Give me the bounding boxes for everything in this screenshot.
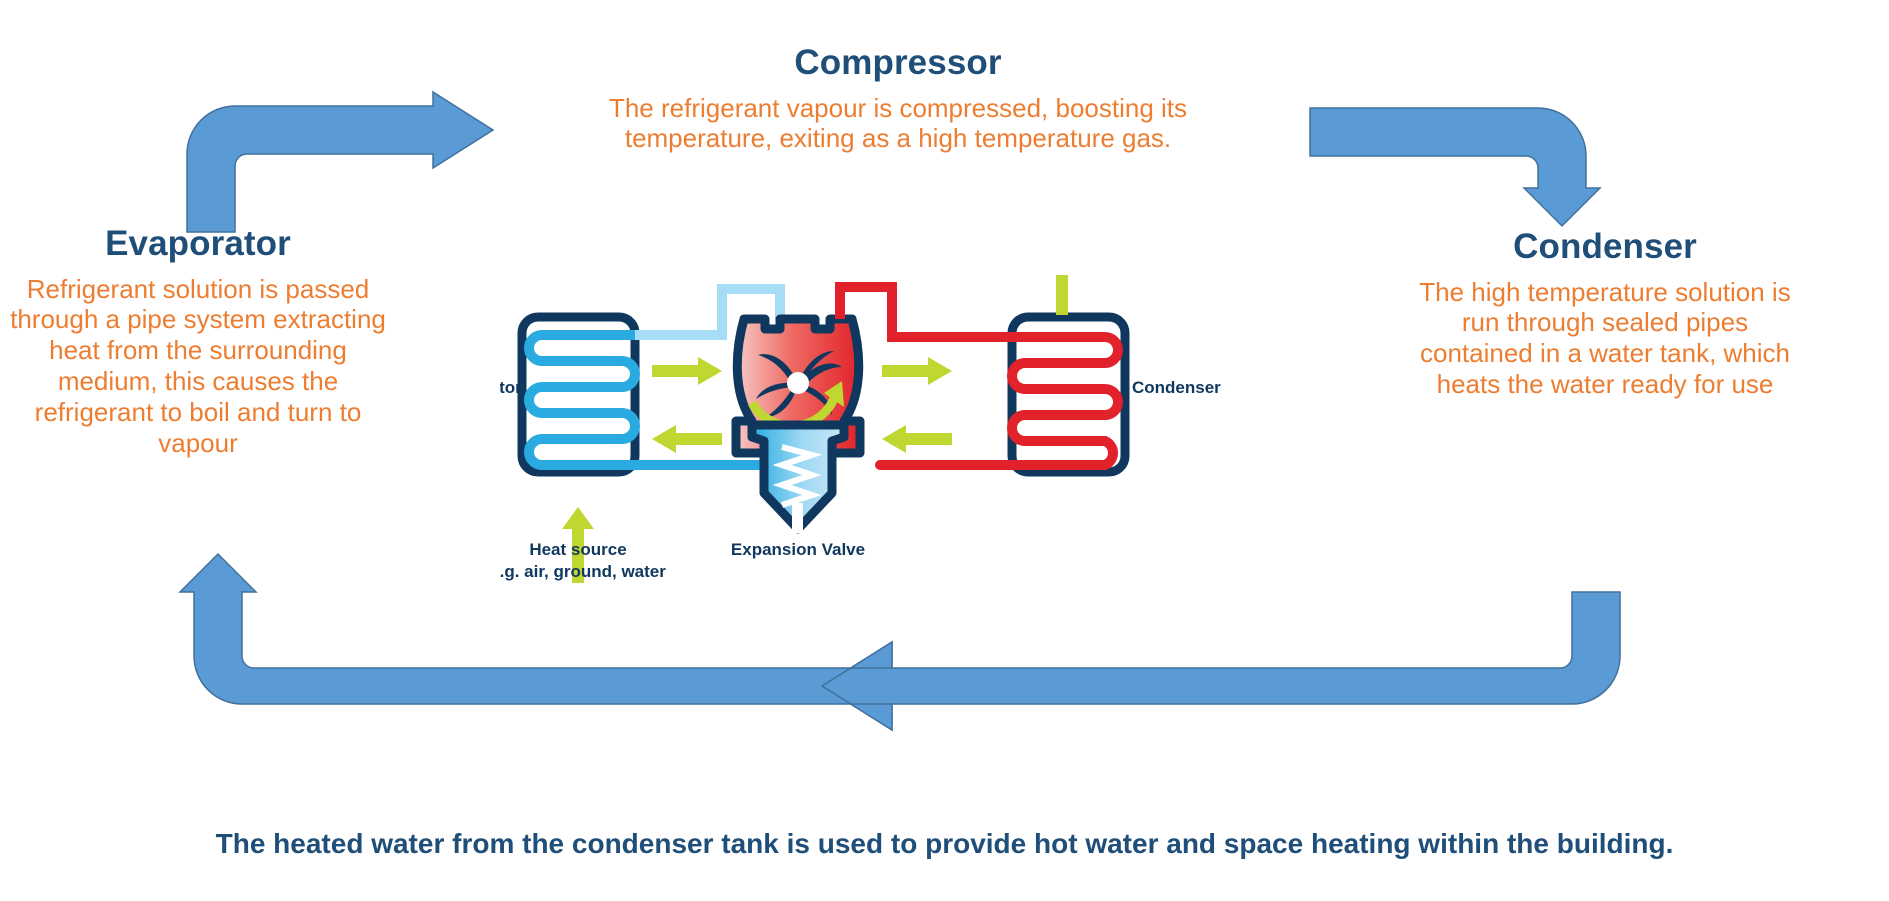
compressor-heading: Compressor (608, 44, 1188, 83)
schematic-heat-source-label-line2: e.g. air, ground, water (500, 562, 666, 581)
bottom-caption: The heated water from the condenser tank… (0, 828, 1889, 860)
flow-arrow-comp-out-icon (882, 357, 952, 385)
schematic-heat-source-label-line1: Heat source (529, 540, 626, 559)
compressor-to-condenser-arrow (1308, 100, 1608, 230)
diagram-canvas: Compressor The refrigerant vapour is com… (0, 0, 1889, 901)
expansion-valve-group (752, 425, 844, 533)
flow-arrow-evap-out-icon (652, 357, 722, 385)
heat-pump-schematic: Evaporator Compressor Condenser To heati… (500, 275, 1390, 655)
evaporator-text-column: Evaporator Refrigerant solution is passe… (8, 225, 388, 459)
expansion-valve-tip (792, 503, 803, 533)
condenser-body: The high temperature solution is run thr… (1405, 277, 1805, 401)
compressor-hub (787, 372, 809, 394)
schematic-expansion-valve-label: Expansion Valve (731, 540, 865, 559)
flow-arrow-valve-out-icon (652, 425, 722, 453)
schematic-condenser-label: Condenser (1132, 378, 1221, 397)
evaporator-to-compressor-arrow (185, 88, 505, 218)
to-heating-arrow-icon (1046, 275, 1078, 315)
compressor-text-column: Compressor The refrigerant vapour is com… (608, 44, 1188, 154)
hot-gas-pipe (840, 287, 1020, 337)
evaporator-heading: Evaporator (8, 225, 388, 264)
schematic-evaporator-label: Evaporator (500, 378, 522, 397)
condenser-heading: Condenser (1405, 228, 1805, 267)
evaporator-body: Refrigerant solution is passed through a… (8, 274, 388, 460)
compressor-body: The refrigerant vapour is compressed, bo… (608, 93, 1188, 155)
condenser-text-column: Condenser The high temperature solution … (1405, 228, 1805, 400)
flow-arrow-cond-out-icon (882, 425, 952, 453)
